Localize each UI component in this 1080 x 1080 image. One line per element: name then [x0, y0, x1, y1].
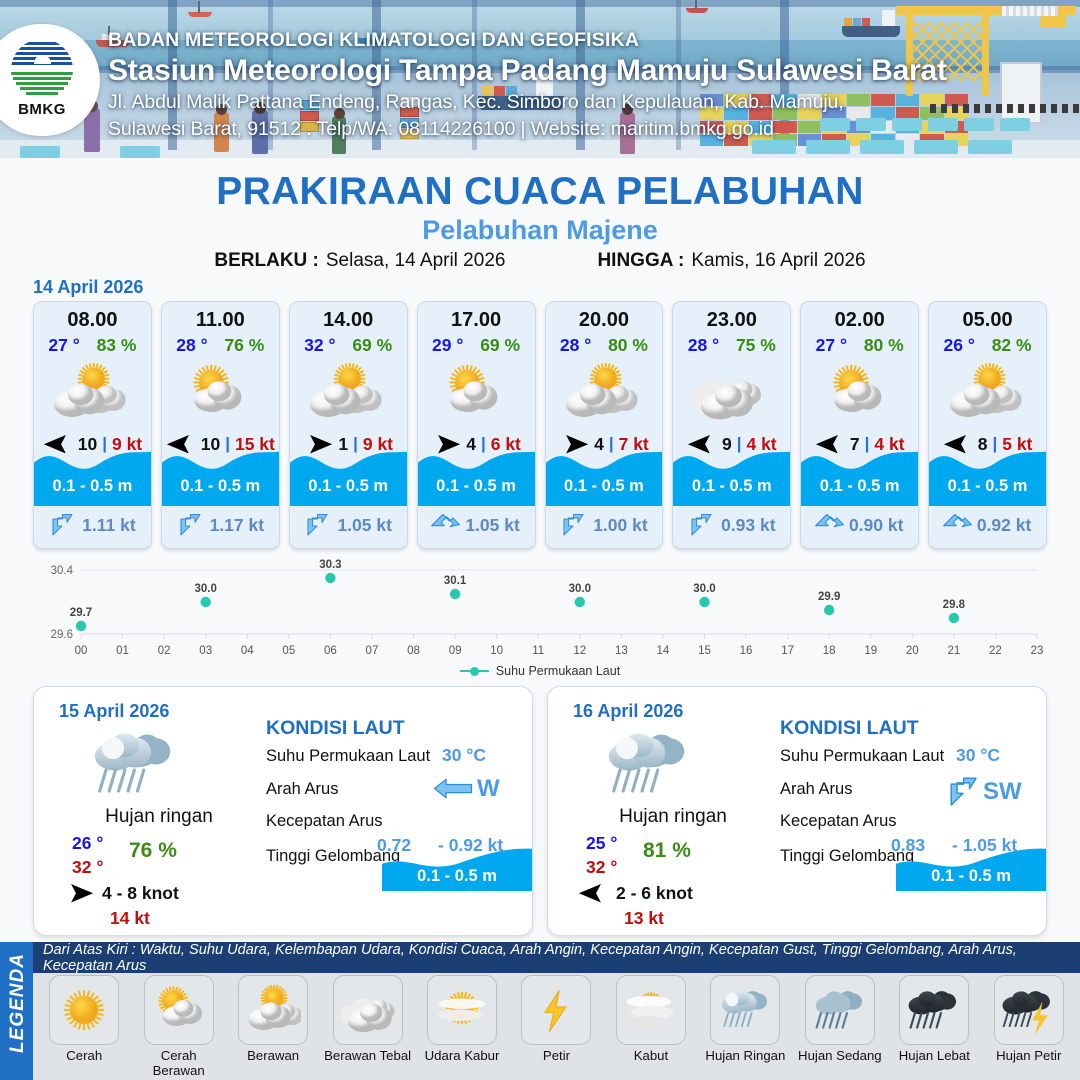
legend-icon-cloudy [333, 975, 403, 1045]
svg-text:20: 20 [906, 645, 919, 657]
card-current-row: 1.05 kt [290, 510, 407, 540]
card-current-row: 0.92 kt [929, 510, 1046, 540]
legend-item-label: Berawan [247, 1049, 299, 1064]
card-time: 08.00 [34, 309, 151, 332]
hourly-card: 20.00 28 ° 80 % 4 | 7 kt 0.1 - 0.5 m [545, 301, 664, 549]
card-wave-graphic [418, 444, 535, 506]
svg-text:30.3: 30.3 [319, 559, 341, 571]
hourly-forecast-cards: 08.00 27 ° 83 % 10 | 9 kt 0.1 - 0.5 m [33, 301, 1047, 547]
card-weather-icon-sunny-cloudy [162, 360, 279, 426]
svg-text:06: 06 [324, 645, 337, 657]
card-time: 20.00 [546, 309, 663, 332]
daily-wind-range: 2 - 6 knot [616, 883, 693, 904]
current-direction-value-row: W [432, 775, 500, 803]
card-humidity: 80 % [608, 335, 648, 356]
svg-text:04: 04 [241, 645, 254, 657]
current-direction-value: W [477, 775, 500, 803]
validity-from: BERLAKU :Selasa, 14 April 2026 [214, 250, 505, 272]
card-wave-height: 0.1 - 0.5 m [162, 477, 279, 496]
legend-icon-heavy-rain [899, 975, 969, 1045]
validity-row: BERLAKU :Selasa, 14 April 2026 HINGGA :K… [0, 250, 1080, 272]
chart-legend-marker [460, 667, 489, 676]
card-temp-humidity-row: 28 ° 75 % [673, 335, 790, 356]
legend-item: Hujan Sedang [796, 975, 884, 1064]
legend-icon-haze [427, 975, 497, 1045]
page-subtitle: Pelabuhan Majene [0, 215, 1080, 246]
legend-item-label: Hujan Lebat [899, 1049, 970, 1064]
svg-text:30.0: 30.0 [569, 583, 591, 595]
svg-text:21: 21 [947, 645, 960, 657]
sst-label: Suhu Permukaan Laut [780, 747, 944, 766]
card-current-speed: 1.17 kt [210, 515, 264, 536]
header-banner: BMKG BADAN METEOROLOGI KLIMATOLOGI DAN G… [0, 0, 1080, 158]
card-wave-height: 0.1 - 0.5 m [801, 477, 918, 496]
svg-text:15: 15 [698, 645, 711, 657]
legend-item: Berawan [229, 975, 317, 1064]
card-wave-height: 0.1 - 0.5 m [34, 477, 151, 496]
validity-from-value: Selasa, 14 April 2026 [326, 250, 506, 271]
card-wave-height: 0.1 - 0.5 m [546, 477, 663, 496]
daily-temp-min: 25 ° [586, 833, 617, 854]
daily-temp-max: 32 ° [586, 857, 617, 878]
legend-item-label: Cerah [66, 1049, 102, 1064]
legend-item: Hujan Petir [985, 975, 1073, 1064]
wave-height-label: Tinggi Gelombang [780, 847, 914, 866]
card-current-row: 1.11 kt [34, 510, 151, 540]
card-weather-icon-partly-cloudy [929, 360, 1046, 426]
current-direction-arrow-icon [688, 512, 714, 538]
svg-text:11: 11 [532, 645, 544, 657]
legend-note: Dari Atas Kiri : Waktu, Suhu Udara, Kele… [43, 942, 1080, 974]
card-current-row: 1.05 kt [418, 510, 535, 540]
card-weather-icon-partly-cloudy [290, 360, 407, 426]
seating-icon [120, 146, 160, 158]
card-time: 02.00 [801, 309, 918, 332]
card-weather-icon-sunny-cloudy [418, 360, 535, 426]
current-direction-arrow-icon [432, 512, 458, 538]
daily-humidity: 76 % [129, 839, 177, 863]
daily-temp-max: 32 ° [72, 857, 103, 878]
svg-text:13: 13 [615, 645, 628, 657]
sea-condition-title: KONDISI LAUT [266, 717, 405, 740]
card-wave-height: 0.1 - 0.5 m [290, 477, 407, 496]
card-temperature: 27 ° [816, 335, 847, 356]
daily-wave-height: 0.1 - 0.5 m [896, 867, 1046, 886]
legend-icon-thunder-rain [994, 975, 1064, 1045]
card-time: 17.00 [418, 309, 535, 332]
card-wave-height: 0.1 - 0.5 m [929, 477, 1046, 496]
svg-text:01: 01 [116, 645, 129, 657]
header-address-line-2: Sulawesi Barat, 91512 . Telp/WA: 0811422… [108, 117, 1038, 143]
hourly-card: 14.00 32 ° 69 % 1 | 9 kt 0.1 - 0.5 m [289, 301, 408, 549]
card-weather-icon-cloudy [673, 360, 790, 426]
svg-text:22: 22 [989, 645, 1002, 657]
card-current-row: 1.00 kt [546, 510, 663, 540]
svg-text:29.7: 29.7 [70, 607, 92, 619]
legend-note-bar: Dari Atas Kiri : Waktu, Suhu Udara, Kele… [33, 942, 1080, 973]
svg-text:23: 23 [1031, 645, 1044, 657]
current-direction-arrow-icon [816, 512, 842, 538]
legend-item: Hujan Lebat [890, 975, 978, 1064]
current-direction-label: Arah Arus [266, 780, 338, 799]
current-direction-arrow-icon [49, 512, 75, 538]
svg-text:05: 05 [282, 645, 295, 657]
card-temp-humidity-row: 26 ° 82 % [929, 335, 1046, 356]
daily-wave-height: 0.1 - 0.5 m [382, 867, 532, 886]
daily-weather-icon-light-rain [600, 723, 700, 807]
svg-text:07: 07 [366, 645, 379, 657]
daily-forecast-panels: 15 April 2026 Hujan ringan 26 ° 32 ° 76 … [33, 686, 1047, 934]
daily-wind-row: 4 - 8 knot [64, 883, 179, 904]
card-temperature: 28 ° [688, 335, 719, 356]
svg-text:09: 09 [449, 645, 462, 657]
svg-text:12: 12 [573, 645, 586, 657]
legend-icon-sunny-cloudy [144, 975, 214, 1045]
daily-panel: 15 April 2026 Hujan ringan 26 ° 32 ° 76 … [33, 686, 533, 936]
legend-item-label: Petir [543, 1049, 570, 1064]
wind-direction-arrow-icon [578, 884, 608, 903]
weather-infographic: BMKG BADAN METEOROLOGI KLIMATOLOGI DAN G… [0, 0, 1080, 1080]
sea-condition-title: KONDISI LAUT [780, 717, 919, 740]
chart-legend-label: Suhu Permukaan Laut [496, 664, 620, 678]
card-current-row: 0.93 kt [673, 510, 790, 540]
card-time: 23.00 [673, 309, 790, 332]
sst-value: 30 °C [442, 745, 486, 766]
daily-gust-speed: 13 kt [624, 908, 664, 929]
current-direction-arrow-icon [177, 512, 203, 538]
legend-item: Kabut [607, 975, 695, 1064]
card-humidity: 69 % [352, 335, 392, 356]
legend-item-label: Hujan Petir [996, 1049, 1061, 1064]
legend-strip: LEGENDA [0, 942, 33, 1080]
daily-gust-speed: 14 kt [110, 908, 150, 929]
hourly-card: 23.00 28 ° 75 % 9 | 4 kt 0.1 [672, 301, 791, 549]
page-title: PRAKIRAAN CUACA PELABUHAN [0, 170, 1080, 214]
daily-weather-icon-light-rain [86, 723, 186, 807]
card-temp-humidity-row: 32 ° 69 % [290, 335, 407, 356]
svg-text:02: 02 [158, 645, 171, 657]
legend-item-label: Hujan Ringan [705, 1049, 785, 1064]
svg-text:17: 17 [781, 645, 794, 657]
crane-cable [1002, 6, 1058, 16]
legend-item: Hujan Ringan [701, 975, 789, 1064]
seating-icon [20, 146, 60, 158]
card-time: 14.00 [290, 309, 407, 332]
current-direction-value: SW [983, 778, 1022, 806]
card-wave-graphic [801, 444, 918, 506]
legend-icon-fog [616, 975, 686, 1045]
logo-text: BMKG [5, 101, 79, 118]
legend-item-label: Berawan Tebal [324, 1049, 411, 1064]
hourly-card: 05.00 26 ° 82 % 8 | 5 kt 0.1 - 0.5 m [928, 301, 1047, 549]
legend-icon-thunder [521, 975, 591, 1045]
card-wave-graphic [34, 444, 151, 506]
hourly-card: 08.00 27 ° 83 % 10 | 9 kt 0.1 - 0.5 m [33, 301, 152, 549]
validity-to-label: HINGGA : [597, 250, 684, 271]
svg-text:03: 03 [199, 645, 212, 657]
card-temperature: 27 ° [48, 335, 79, 356]
header-address-line-1: Jl. Abdul Malik Pattana Endeng, Rangas, … [108, 90, 1038, 116]
card-humidity: 76 % [224, 335, 264, 356]
header-station-name: Stasiun Meteorologi Tampa Padang Mamuju … [108, 53, 1038, 88]
card-current-row: 1.17 kt [162, 510, 279, 540]
svg-text:29.9: 29.9 [818, 591, 840, 603]
card-temp-humidity-row: 27 ° 83 % [34, 335, 151, 356]
card-temp-humidity-row: 29 ° 69 % [418, 335, 535, 356]
svg-text:08: 08 [407, 645, 420, 657]
legend-section: LEGENDA Dari Atas Kiri : Waktu, Suhu Uda… [0, 942, 1080, 1080]
card-wave-graphic [290, 444, 407, 506]
daily-wind-range: 4 - 8 knot [102, 883, 179, 904]
chart-legend: Suhu Permukaan Laut [0, 664, 1080, 678]
current-direction-arrow-icon [946, 775, 980, 809]
current-speed-label: Kecepatan Arus [780, 812, 897, 831]
legend-icon-moderate-rain [805, 975, 875, 1045]
card-temp-humidity-row: 28 ° 76 % [162, 335, 279, 356]
card-temperature: 29 ° [432, 335, 463, 356]
card-current-speed: 0.90 kt [849, 515, 903, 536]
card-weather-icon-sunny-cloudy [801, 360, 918, 426]
svg-text:16: 16 [740, 645, 753, 657]
sst-chart: 29.630.400010203040506070809101112131415… [33, 556, 1047, 681]
logo-emblem [11, 39, 73, 101]
card-wave-graphic [546, 444, 663, 506]
card-current-speed: 1.00 kt [593, 515, 647, 536]
current-direction-label: Arah Arus [780, 780, 852, 799]
legend-icon-sunny [49, 975, 119, 1045]
card-wave-graphic [673, 444, 790, 506]
svg-text:00: 00 [75, 645, 88, 657]
hourly-day-label: 14 April 2026 [33, 277, 143, 298]
legend-item-label: Udara Kabur [425, 1049, 500, 1064]
card-time: 05.00 [929, 309, 1046, 332]
validity-to-value: Kamis, 16 April 2026 [691, 250, 865, 271]
daily-humidity: 81 % [643, 839, 691, 863]
legend-icon-partly-cloudy [238, 975, 308, 1045]
card-temperature: 26 ° [944, 335, 975, 356]
card-humidity: 83 % [97, 335, 137, 356]
daily-condition: Hujan ringan [34, 806, 284, 828]
card-current-speed: 1.11 kt [82, 515, 136, 536]
legend-item: Petir [512, 975, 600, 1064]
daily-temp-min: 26 ° [72, 833, 103, 854]
svg-text:30.0: 30.0 [195, 583, 217, 595]
card-wave-graphic [929, 444, 1046, 506]
crane-icon [1040, 14, 1066, 28]
wind-direction-arrow-icon [64, 884, 94, 903]
legend-item: Berawan Tebal [324, 975, 412, 1064]
sst-label: Suhu Permukaan Laut [266, 747, 430, 766]
logo-land-stripes [11, 70, 73, 101]
card-weather-icon-partly-cloudy [546, 360, 663, 426]
card-humidity: 75 % [736, 335, 776, 356]
card-time: 11.00 [162, 309, 279, 332]
hourly-card: 11.00 28 ° 76 % 10 | 15 kt 0.1 - 0.5 m 1… [161, 301, 280, 549]
svg-text:18: 18 [823, 645, 836, 657]
current-speed-label: Kecepatan Arus [266, 812, 383, 831]
current-direction-arrow-icon [432, 777, 474, 800]
daily-wind-row: 2 - 6 knot [578, 883, 693, 904]
header-organization: BADAN METEOROLOGI KLIMATOLOGI DAN GEOFIS… [108, 30, 1038, 51]
wave-height-label: Tinggi Gelombang [266, 847, 400, 866]
card-current-row: 0.90 kt [801, 510, 918, 540]
svg-text:30.0: 30.0 [693, 583, 715, 595]
daily-panel: 16 April 2026 Hujan ringan 25 ° 32 ° 81 … [547, 686, 1047, 936]
legend-item: Cerah [40, 975, 128, 1064]
daily-condition: Hujan ringan [548, 806, 798, 828]
card-temperature: 28 ° [176, 335, 207, 356]
legend-item: Udara Kabur [418, 975, 506, 1064]
card-temperature: 28 ° [560, 335, 591, 356]
svg-text:30.1: 30.1 [444, 575, 467, 587]
svg-text:10: 10 [490, 645, 503, 657]
current-direction-value-row: SW [946, 775, 1022, 809]
legend-icon-light-rain [710, 975, 780, 1045]
sst-value: 30 °C [956, 745, 1000, 766]
svg-text:29.6: 29.6 [51, 629, 73, 641]
sst-chart-svg: 29.630.400010203040506070809101112131415… [33, 556, 1047, 681]
card-current-speed: 0.92 kt [977, 515, 1031, 536]
card-current-speed: 1.05 kt [337, 515, 391, 536]
legend-item: Cerah Berawan [135, 975, 223, 1078]
hourly-card: 17.00 29 ° 69 % 4 | 6 kt 0.1 - 0.5 m 1.0… [417, 301, 536, 549]
svg-text:30.4: 30.4 [51, 565, 74, 577]
legend-item-label: Hujan Sedang [798, 1049, 882, 1064]
legend-item-label: Kabut [634, 1049, 668, 1064]
svg-text:14: 14 [657, 645, 670, 657]
card-wave-height: 0.1 - 0.5 m [418, 477, 535, 496]
card-humidity: 82 % [992, 335, 1032, 356]
legend-strip-label: LEGENDA [7, 949, 29, 1057]
daily-date: 15 April 2026 [59, 701, 169, 722]
card-temperature: 32 ° [304, 335, 335, 356]
card-temp-humidity-row: 28 ° 80 % [546, 335, 663, 356]
card-current-speed: 1.05 kt [465, 515, 519, 536]
card-wave-height: 0.1 - 0.5 m [673, 477, 790, 496]
card-current-speed: 0.93 kt [721, 515, 775, 536]
validity-to: HINGGA :Kamis, 16 April 2026 [597, 250, 865, 272]
card-humidity: 69 % [480, 335, 520, 356]
svg-text:29.8: 29.8 [943, 599, 966, 611]
current-direction-arrow-icon [560, 512, 586, 538]
current-direction-arrow-icon [304, 512, 330, 538]
card-temp-humidity-row: 27 ° 80 % [801, 335, 918, 356]
legend-item-label: Cerah Berawan [135, 1049, 223, 1078]
hourly-card: 02.00 27 ° 80 % 7 | 4 kt 0.1 - 0.5 m 0.9… [800, 301, 919, 549]
validity-from-label: BERLAKU : [214, 250, 319, 271]
daily-date: 16 April 2026 [573, 701, 683, 722]
current-direction-arrow-icon [944, 512, 970, 538]
card-wave-graphic [162, 444, 279, 506]
header-text-block: BADAN METEOROLOGI KLIMATOLOGI DAN GEOFIS… [108, 30, 1038, 142]
card-humidity: 80 % [864, 335, 904, 356]
svg-text:19: 19 [864, 645, 877, 657]
card-weather-icon-partly-cloudy [34, 360, 151, 426]
legend-items: Cerah Cerah Berawan Berawan [33, 975, 1080, 1079]
